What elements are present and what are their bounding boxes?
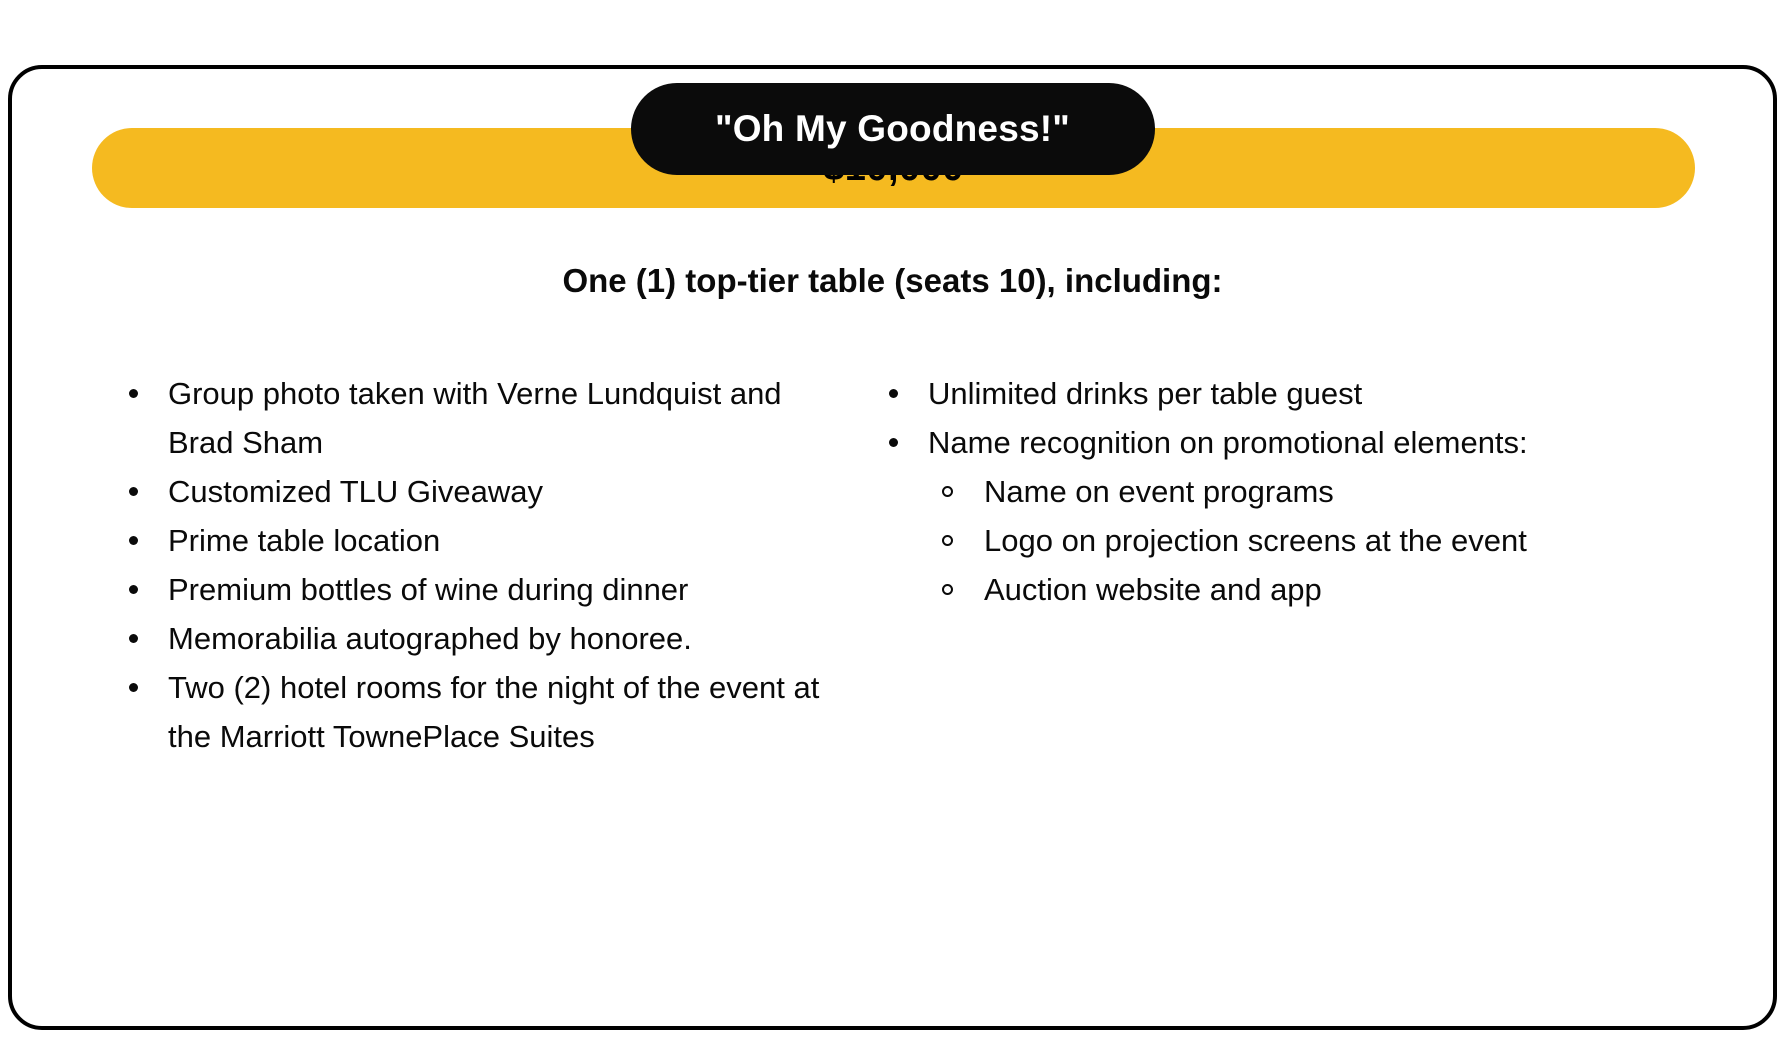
bullet-dot-icon [129,614,138,663]
list-item-text: Group photo taken with Verne Lundquist a… [168,376,782,460]
list-item-text: Premium bottles of wine during dinner [168,572,688,607]
bullet-dot-icon [889,369,898,418]
sponsorship-card: "Oh My Goodness!" $10,000 One (1) top-ti… [8,65,1777,1030]
bullet-circle-icon [942,516,953,565]
bullet-dot-icon [129,663,138,712]
list-item: Premium bottles of wine during dinner [120,565,822,614]
list-item-text: Customized TLU Giveaway [168,474,543,509]
benefits-columns: Group photo taken with Verne Lundquist a… [12,369,1773,761]
bullet-dot-icon [129,369,138,418]
bullet-dot-icon [129,467,138,516]
tier-subtitle: One (1) top-tier table (seats 10), inclu… [12,262,1773,300]
list-item: Memorabilia autographed by honoree. [120,614,822,663]
list-item-text: Unlimited drinks per table guest [928,376,1362,411]
nested-list-item-text: Auction website and app [984,572,1322,607]
list-item: Two (2) hotel rooms for the night of the… [120,663,822,761]
nested-list-item-text: Logo on projection screens at the event [984,523,1527,558]
list-item: Customized TLU Giveaway [120,467,822,516]
list-item: Unlimited drinks per table guest [880,369,1682,418]
tier-name-badge: "Oh My Goodness!" [631,83,1155,175]
nested-list-item: Logo on projection screens at the event [928,516,1682,565]
bullet-dot-icon [889,418,898,467]
list-item-text: Two (2) hotel rooms for the night of the… [168,670,819,754]
list-item: Prime table location [120,516,822,565]
nested-list-item-text: Name on event programs [984,474,1334,509]
benefits-left-column: Group photo taken with Verne Lundquist a… [12,369,842,761]
nested-benefits-wrapper: Name on event programs Logo on projectio… [928,467,1682,614]
benefits-nested-list: Name on event programs Logo on projectio… [928,467,1682,614]
nested-list-item: Name on event programs [928,467,1682,516]
bullet-circle-icon [942,467,953,516]
list-item-text: Memorabilia autographed by honoree. [168,621,692,656]
list-item-text: Prime table location [168,523,440,558]
bullet-dot-icon [129,516,138,565]
bullet-dot-icon [129,565,138,614]
bullet-circle-icon [942,565,953,614]
nested-list-item: Auction website and app [928,565,1682,614]
list-item: Name recognition on promotional elements… [880,418,1682,614]
benefits-left-list: Group photo taken with Verne Lundquist a… [120,369,822,761]
tier-name-label: "Oh My Goodness!" [715,108,1070,150]
list-item-text: Name recognition on promotional elements… [928,425,1528,460]
benefits-right-list: Unlimited drinks per table guest Name re… [880,369,1682,614]
sponsorship-tier-card-page: "Oh My Goodness!" $10,000 One (1) top-ti… [0,0,1789,1058]
benefits-right-column: Unlimited drinks per table guest Name re… [842,369,1702,614]
list-item: Group photo taken with Verne Lundquist a… [120,369,822,467]
